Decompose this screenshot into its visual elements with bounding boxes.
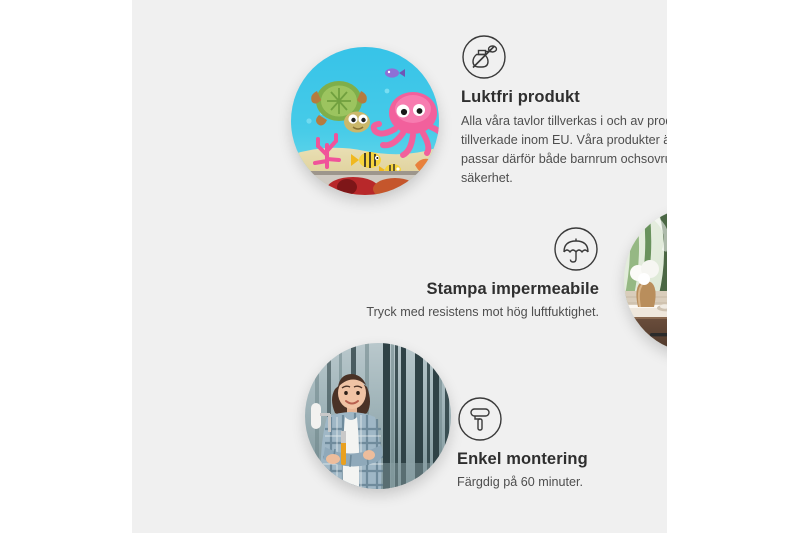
feature-description: Tryck med resistens mot hög luftfuktighe… [337,303,599,322]
feature-title: Luktfri produkt [461,87,667,108]
bathroom-botanical-wallpaper-thumbnail [624,207,667,353]
no-odor-spray-bottle-icon [461,34,507,80]
umbrella-icon [553,226,599,272]
feature-block-easy-assembly: Enkel montering Färgdig på 60 minuter. [457,396,667,492]
feature-block-odor-free: Luktfri produkt Alla våra tavlor tillver… [461,34,667,188]
content-panel: Luktfri produkt Alla våra tavlor tillver… [132,0,667,533]
ocean-cartoon-mural-thumbnail [291,47,439,195]
feature-description: Färgdig på 60 minuter. [457,473,667,492]
feature-block-waterproof-print: Stampa impermeabile Tryck med resistens … [337,226,599,322]
feature-showcase-page: Luktfri produkt Alla våra tavlor tillver… [0,0,800,533]
forest-mural-installer-thumbnail [305,343,451,489]
paint-roller-icon [457,396,503,442]
feature-title: Enkel montering [457,449,667,470]
feature-title: Stampa impermeabile [337,279,599,300]
feature-description: Alla våra tavlor tillverkas i och av pro… [461,112,667,189]
